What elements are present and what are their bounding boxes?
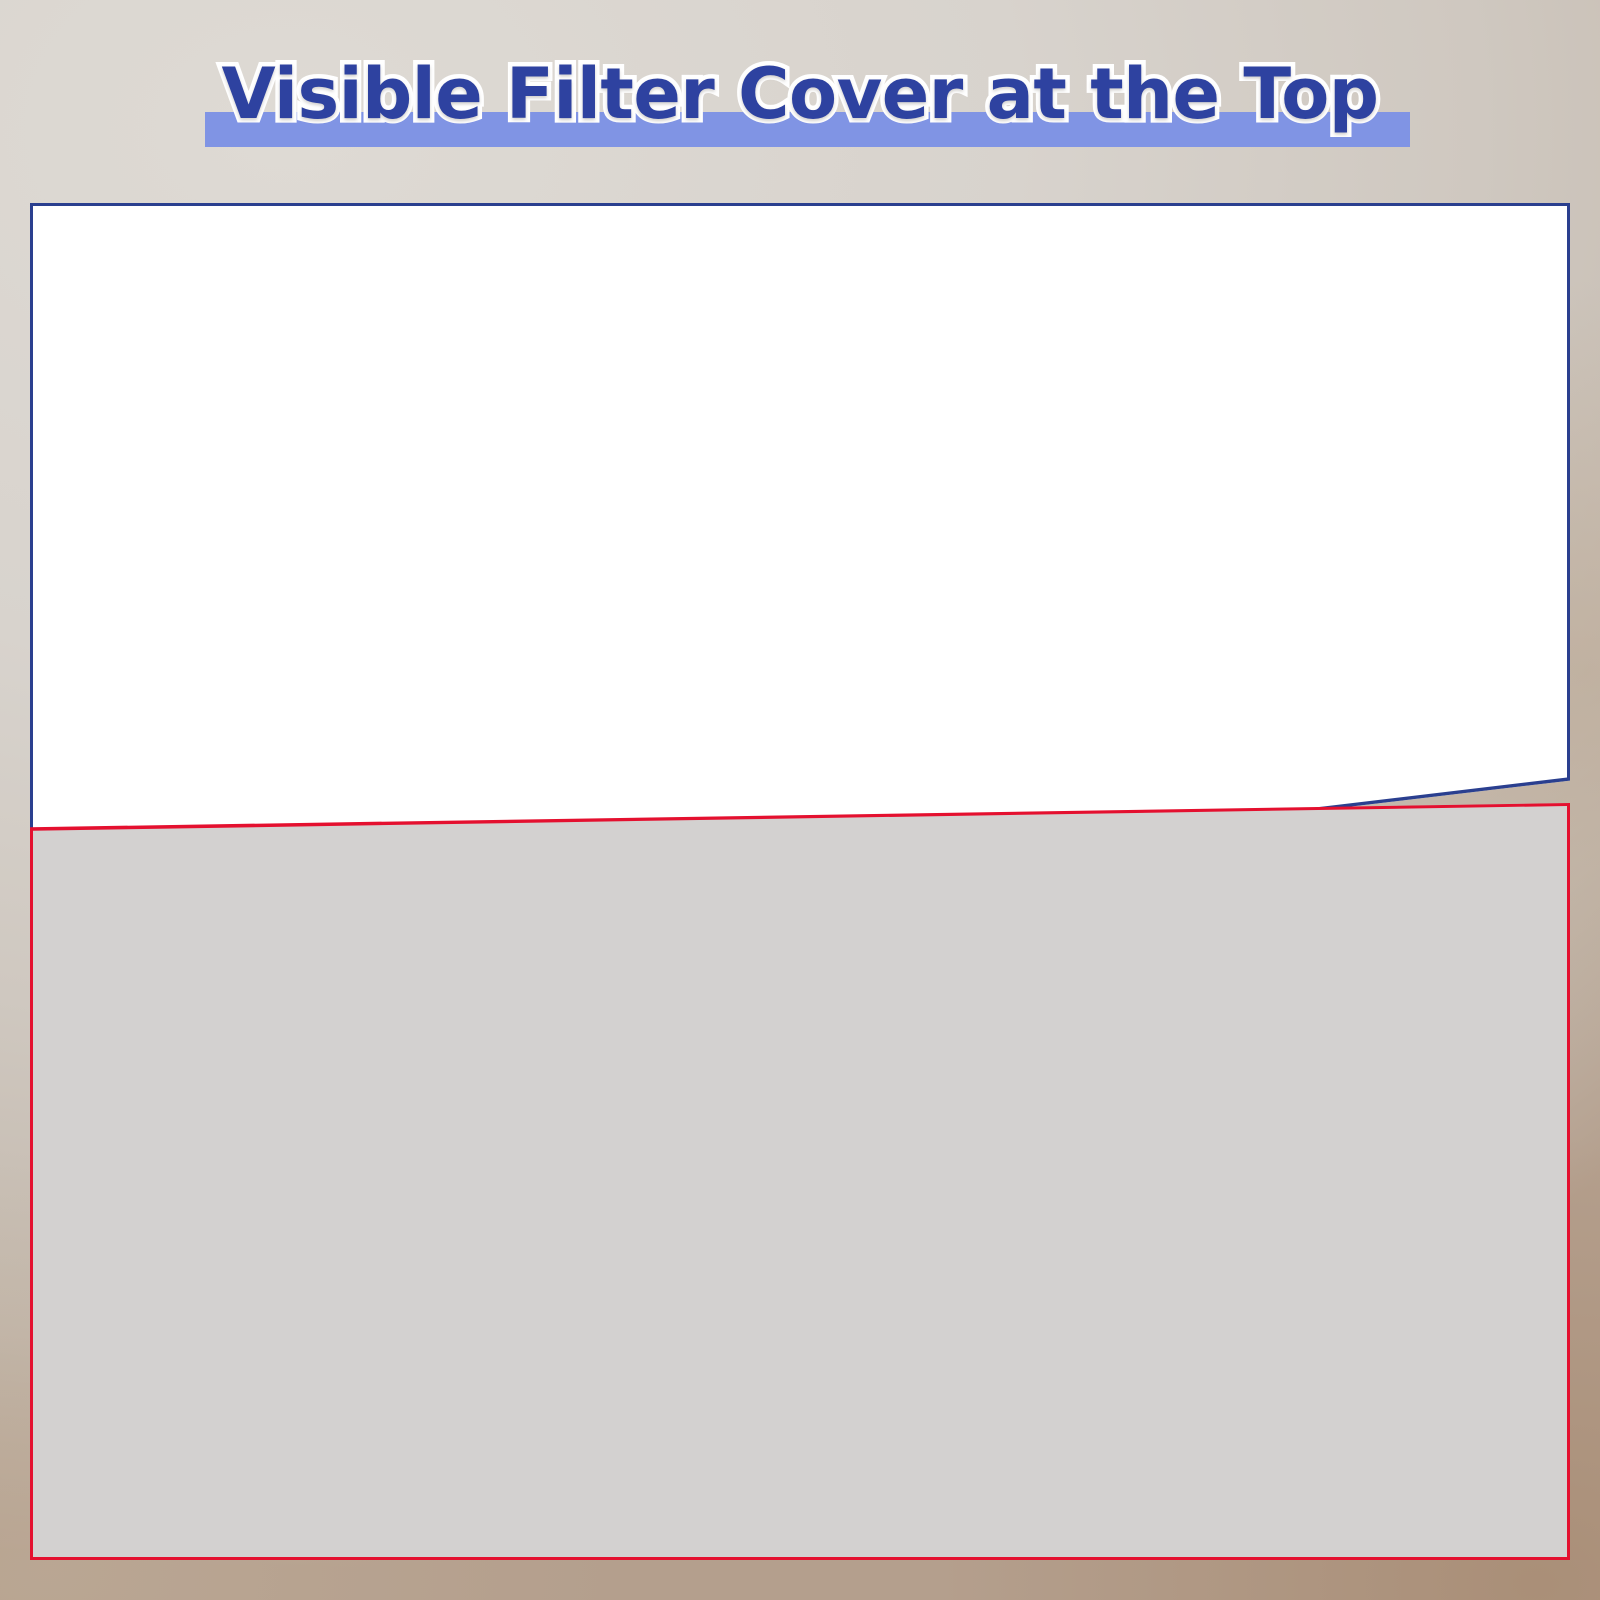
lifted-drain-assembly bbox=[670, 1143, 1100, 1560]
bullet-dot-icon bbox=[1052, 270, 1068, 286]
caption-line-2: lifted for cleaning bbox=[88, 1454, 708, 1510]
list-item: Easy to lift out bbox=[1052, 252, 1552, 302]
hair-clog bbox=[696, 1433, 1074, 1560]
infographic-canvas: Visible Filter Cover at the Top bbox=[0, 0, 1600, 1600]
list-item: Prevent clogging bbox=[1052, 306, 1552, 356]
bullet-label: Easy to lift out bbox=[1084, 252, 1373, 302]
bullet-label: Convenient for cleaning bbox=[1084, 360, 1562, 410]
bottom-caption: The entire drain needs to be lifted for … bbox=[88, 1398, 708, 1510]
bullet-dot-icon bbox=[1052, 324, 1068, 340]
feature-bullet-list: Easy to lift out Prevent clogging Conven… bbox=[1052, 252, 1552, 414]
bullet-dot-icon bbox=[1052, 378, 1068, 394]
check-circle-icon bbox=[76, 255, 222, 401]
list-item: Convenient for cleaning bbox=[1052, 360, 1552, 410]
page-title: Visible Filter Cover at the Top bbox=[0, 42, 1600, 146]
bullet-label: Prevent clogging bbox=[1084, 306, 1420, 356]
x-circle-icon bbox=[1378, 1368, 1528, 1518]
title-block: Visible Filter Cover at the Top bbox=[0, 42, 1600, 162]
caption-line-1: The entire drain needs to be bbox=[88, 1398, 708, 1454]
